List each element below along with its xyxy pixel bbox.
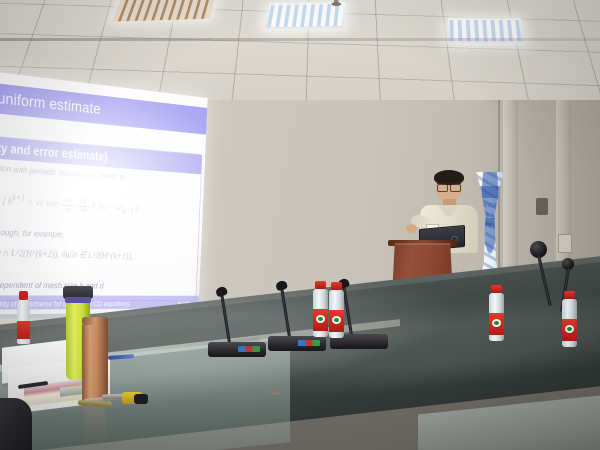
ceiling-light-panel-1 bbox=[112, 0, 217, 22]
theorem-box: Theorem (Stability and error estimate) T… bbox=[0, 127, 202, 301]
key-fob-black bbox=[134, 394, 148, 404]
chair-foreground-left bbox=[0, 398, 32, 450]
bottle-collar bbox=[65, 297, 91, 303]
sprinkler-head-icon bbox=[334, 0, 339, 5]
bottle-label-mark bbox=[316, 315, 325, 323]
water-bottle bbox=[489, 293, 504, 341]
theorem-equation-2: u ∈ L^∞(H^{k+1}) ∩ L^2(H^{k+2}), ∂u/∂t ∈… bbox=[0, 246, 133, 261]
mic-status-leds bbox=[298, 340, 320, 346]
ceiling-light-panel-2 bbox=[265, 2, 346, 28]
bottle-label bbox=[17, 321, 30, 339]
table-light-reflection bbox=[268, 392, 282, 395]
theorem-body-line-3: if the solution is smooth enough, for ex… bbox=[0, 224, 65, 240]
ceiling-wall-edge bbox=[0, 38, 600, 41]
water-bottle bbox=[329, 290, 344, 338]
thermos-reflection bbox=[84, 405, 106, 448]
water-bottle bbox=[562, 299, 577, 347]
bottle-label-mark bbox=[492, 319, 501, 327]
water-bottle bbox=[313, 289, 328, 337]
bottle-cap bbox=[491, 285, 502, 293]
theorem-equation-1: |||u − U(T)||| ≤ C(1 + T) [ hk+1 + √ε mi… bbox=[0, 186, 139, 216]
car-keys bbox=[76, 393, 152, 407]
bottle-cap bbox=[331, 282, 342, 290]
conference-room-photo: Stability and uniform estimate Theorem (… bbox=[0, 0, 600, 450]
bottle-label-mark bbox=[332, 316, 341, 324]
bottle-cap bbox=[315, 281, 326, 289]
thermos-lid bbox=[82, 317, 108, 325]
glasses-icon bbox=[437, 183, 461, 189]
bottle-label-mark bbox=[565, 325, 574, 333]
wall-plate-icon bbox=[558, 234, 572, 253]
bottle-cap bbox=[564, 291, 575, 299]
projection-screen: Stability and uniform estimate Theorem (… bbox=[0, 59, 208, 321]
small-bottle bbox=[17, 300, 30, 344]
key bbox=[78, 400, 112, 407]
presenter-hand bbox=[406, 224, 417, 233]
wall-socket-icon bbox=[536, 198, 548, 215]
bottle-cap bbox=[19, 291, 28, 300]
light-diffuser-cells bbox=[267, 4, 344, 27]
